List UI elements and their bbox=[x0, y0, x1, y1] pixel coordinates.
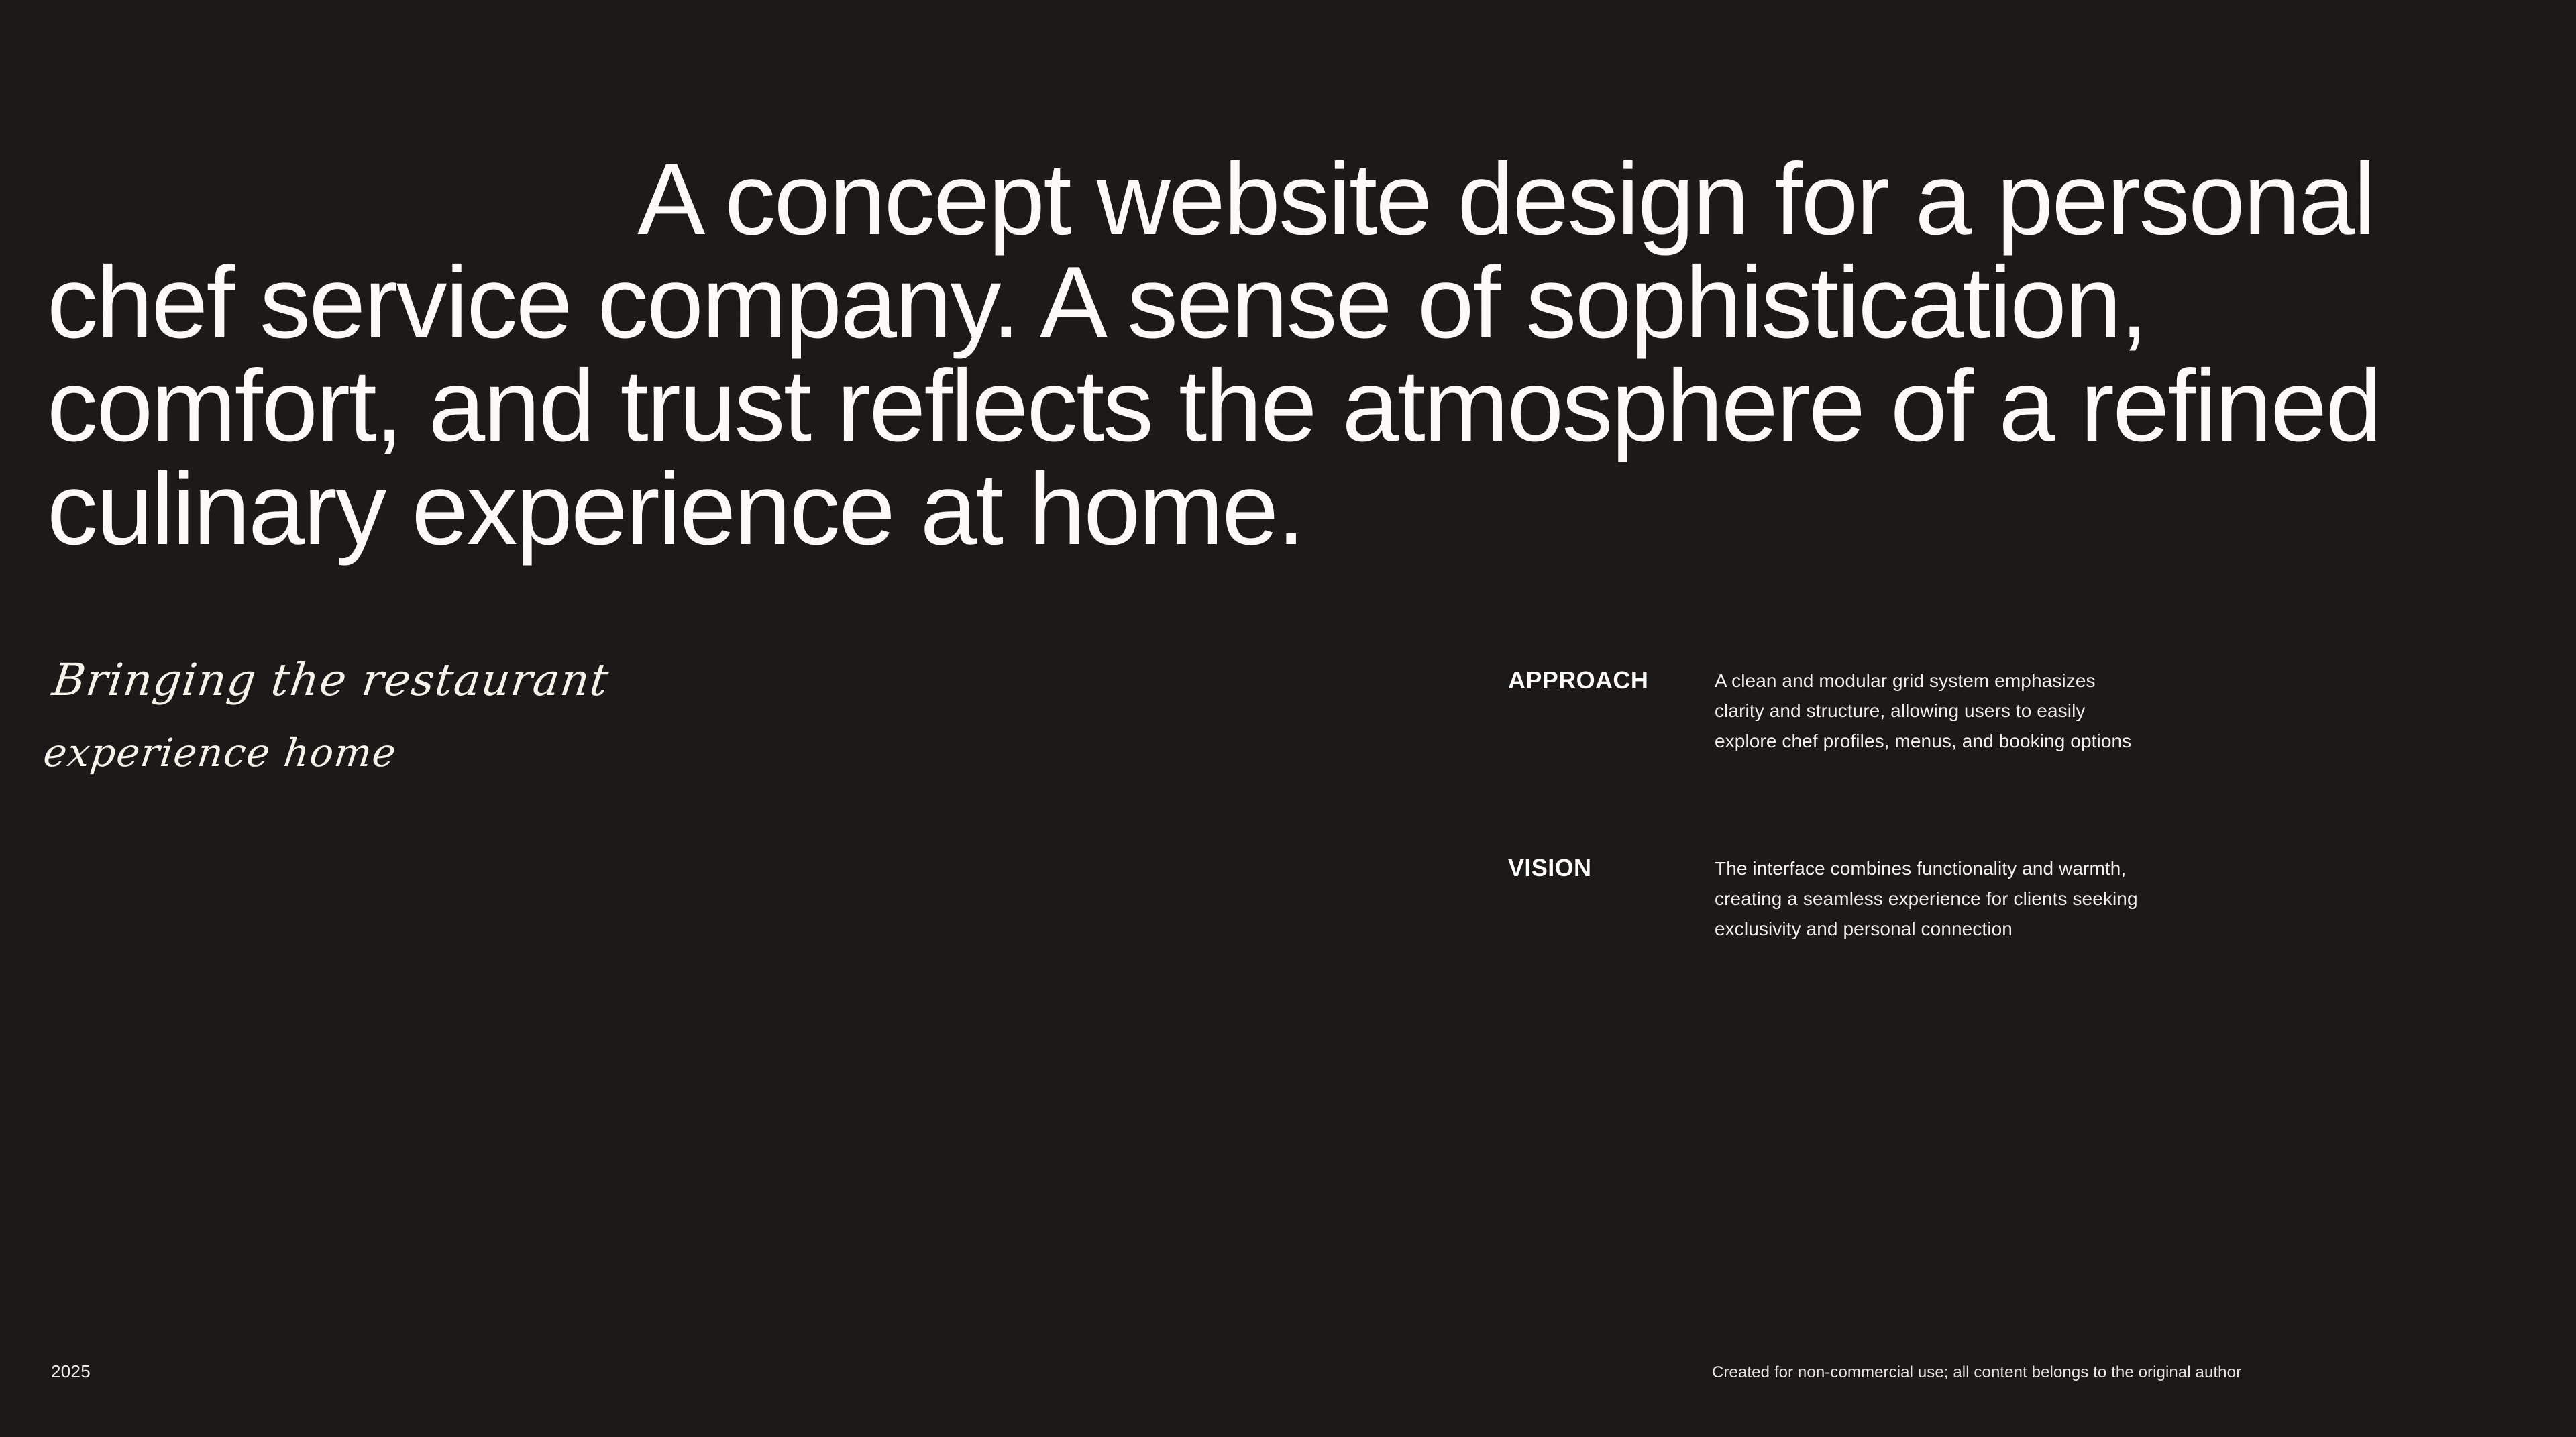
info-label-approach: APPROACH bbox=[1508, 666, 1715, 695]
tagline-line-1: Bringing the restaurant bbox=[48, 644, 728, 716]
footer-year: 2025 bbox=[51, 1361, 91, 1382]
headline-text: A concept website design for a personal … bbox=[47, 142, 2407, 566]
presentation-slide: A concept website design for a personal … bbox=[0, 0, 2576, 1437]
script-tagline: Bringing the restaurant experience home bbox=[40, 644, 729, 789]
page-title: A concept website design for a personal … bbox=[47, 148, 2475, 561]
info-label-vision: VISION bbox=[1508, 853, 1715, 883]
tagline-line-2: experience home bbox=[40, 716, 719, 789]
info-body-vision: The interface combines functionality and… bbox=[1715, 853, 2144, 944]
info-body-approach: A clean and modular grid system emphasiz… bbox=[1715, 666, 2144, 756]
info-block-approach: APPROACH A clean and modular grid system… bbox=[1508, 666, 2144, 756]
footer-credit-note: Created for non-commercial use; all cont… bbox=[1712, 1363, 2241, 1382]
info-block-vision: VISION The interface combines functional… bbox=[1508, 853, 2144, 944]
